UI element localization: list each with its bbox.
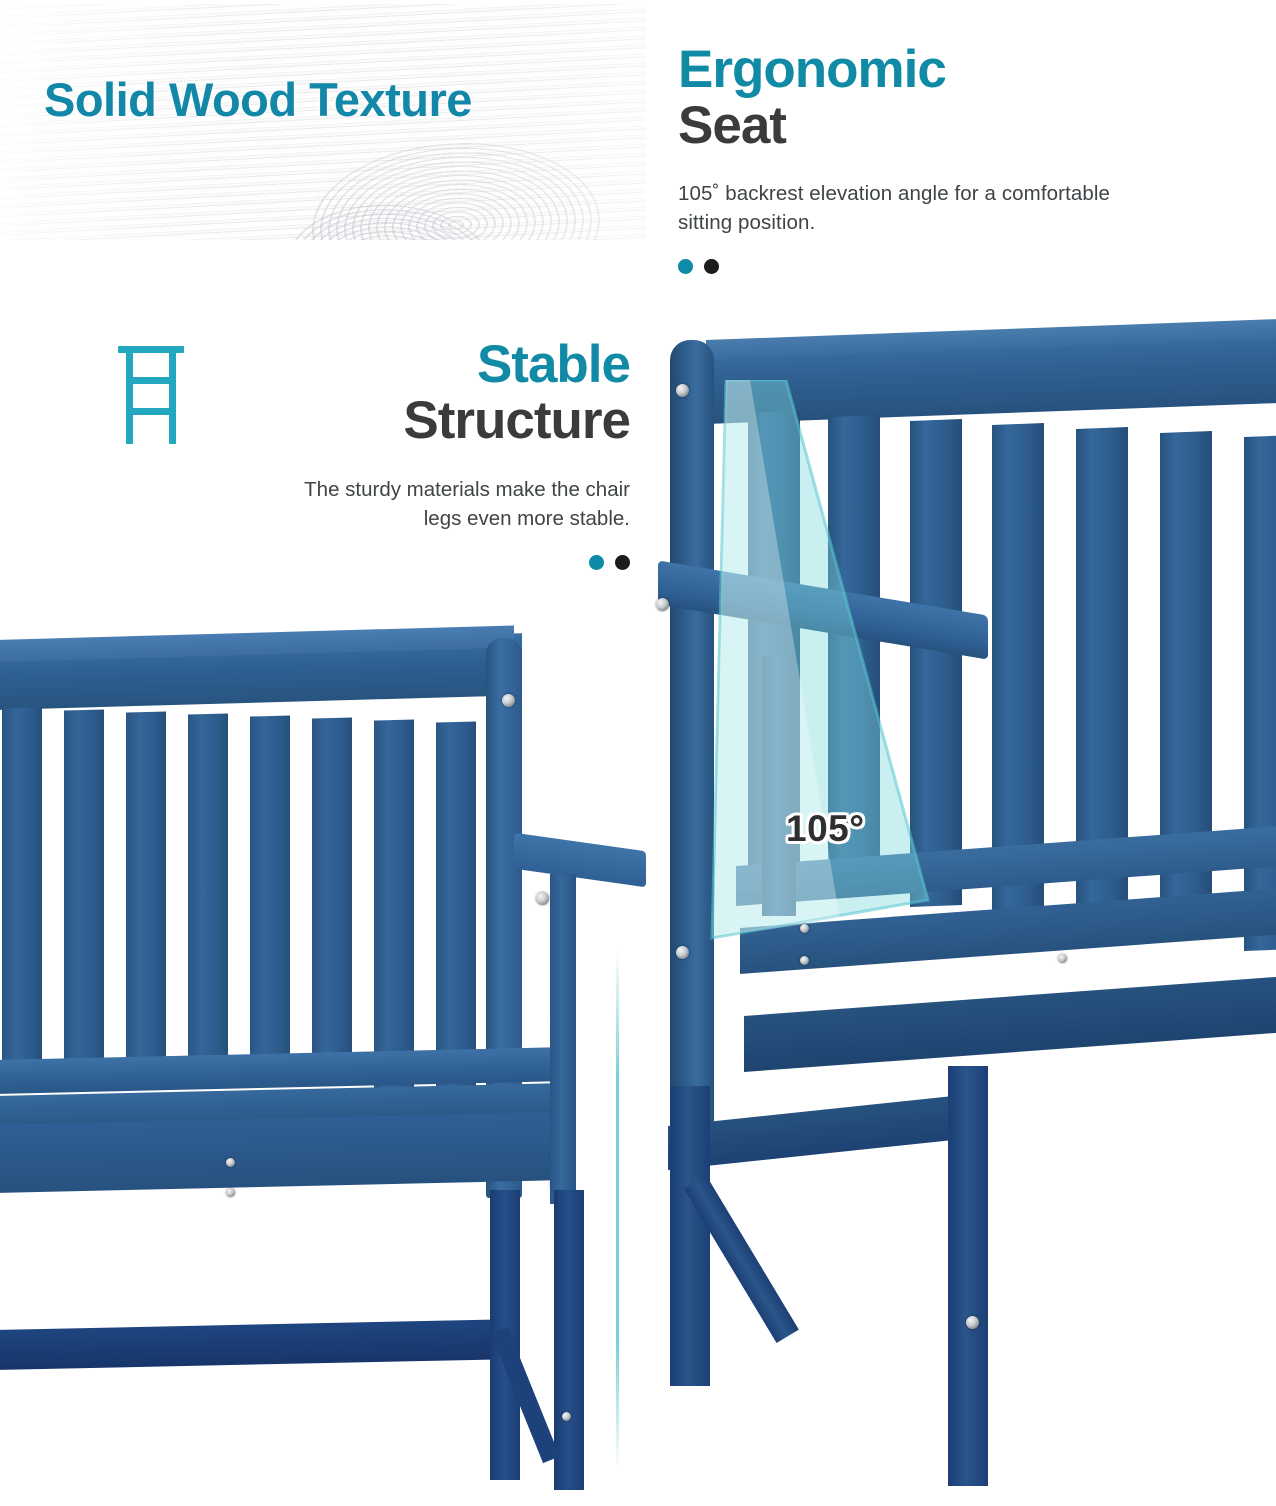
screw-icon xyxy=(800,956,809,965)
stable-body-text: The sturdy materials make the chair legs… xyxy=(120,475,630,533)
left-bench-back-slat xyxy=(374,719,414,1088)
right-bench-back-slat xyxy=(910,419,962,907)
left-bench-back-slat xyxy=(64,709,104,1078)
right-bench-leg xyxy=(670,1086,710,1386)
left-bench-image xyxy=(0,630,654,1500)
ergonomic-heading-accent: Ergonomic xyxy=(678,44,1158,96)
screw-icon xyxy=(226,1188,235,1197)
dot-dark-icon xyxy=(704,259,719,274)
left-bench-back-slat xyxy=(2,707,42,1076)
right-bench-front-apron xyxy=(744,975,1276,1072)
screw-icon xyxy=(502,694,515,707)
screw-icon xyxy=(966,1316,979,1329)
dot-teal-icon xyxy=(589,555,604,570)
left-bench-arm-support xyxy=(550,874,576,1204)
left-bench-back-slat xyxy=(312,717,352,1086)
stable-heading-accent: Stable xyxy=(120,338,630,391)
left-bench-leg xyxy=(554,1190,584,1490)
screw-icon xyxy=(676,946,689,959)
left-bench-front-apron xyxy=(0,1112,550,1193)
screw-icon xyxy=(676,384,689,397)
screw-icon xyxy=(562,1412,571,1421)
ergonomic-heading-plain: Seat xyxy=(678,98,1158,153)
feature-block-stable-structure: Stable Structure The sturdy materials ma… xyxy=(120,338,630,570)
dot-teal-icon xyxy=(678,259,693,274)
stable-body-line-2: legs even more stable. xyxy=(120,504,630,533)
right-bench-back-post xyxy=(670,340,714,1140)
screw-icon xyxy=(1058,954,1067,963)
left-bench-back-slat xyxy=(126,711,166,1080)
screw-icon xyxy=(536,892,549,905)
right-bench-back-slat xyxy=(1244,435,1276,951)
screw-icon xyxy=(800,924,809,933)
left-bench-back-slat xyxy=(436,721,476,1090)
angle-annotation-label: 105° xyxy=(786,808,865,850)
ergonomic-body-text: 105˚ backrest elevation angle for a comf… xyxy=(678,179,1158,237)
stable-dot-group xyxy=(120,555,630,570)
dot-dark-icon xyxy=(615,555,630,570)
right-bench-arm-support xyxy=(762,656,796,916)
screw-icon xyxy=(226,1158,235,1167)
left-bench-stretcher xyxy=(0,1319,518,1370)
feature-block-ergonomic-seat: Ergonomic Seat 105˚ backrest elevation a… xyxy=(678,44,1158,274)
right-bench-leg xyxy=(948,1066,988,1486)
infographic-canvas: Solid Wood Texture xyxy=(0,0,1276,1500)
solid-wood-texture-title: Solid Wood Texture xyxy=(44,72,472,127)
alignment-guide-line xyxy=(616,950,619,1470)
right-bench-image xyxy=(648,326,1276,1506)
left-bench-back-slat xyxy=(250,715,290,1084)
stable-body-line-1: The sturdy materials make the chair xyxy=(120,475,630,504)
ergonomic-dot-group xyxy=(678,259,1158,274)
stable-heading-plain: Structure xyxy=(120,393,630,449)
screw-icon xyxy=(656,598,669,611)
left-bench-armrest xyxy=(514,833,646,888)
left-bench-back-slat xyxy=(188,713,228,1082)
